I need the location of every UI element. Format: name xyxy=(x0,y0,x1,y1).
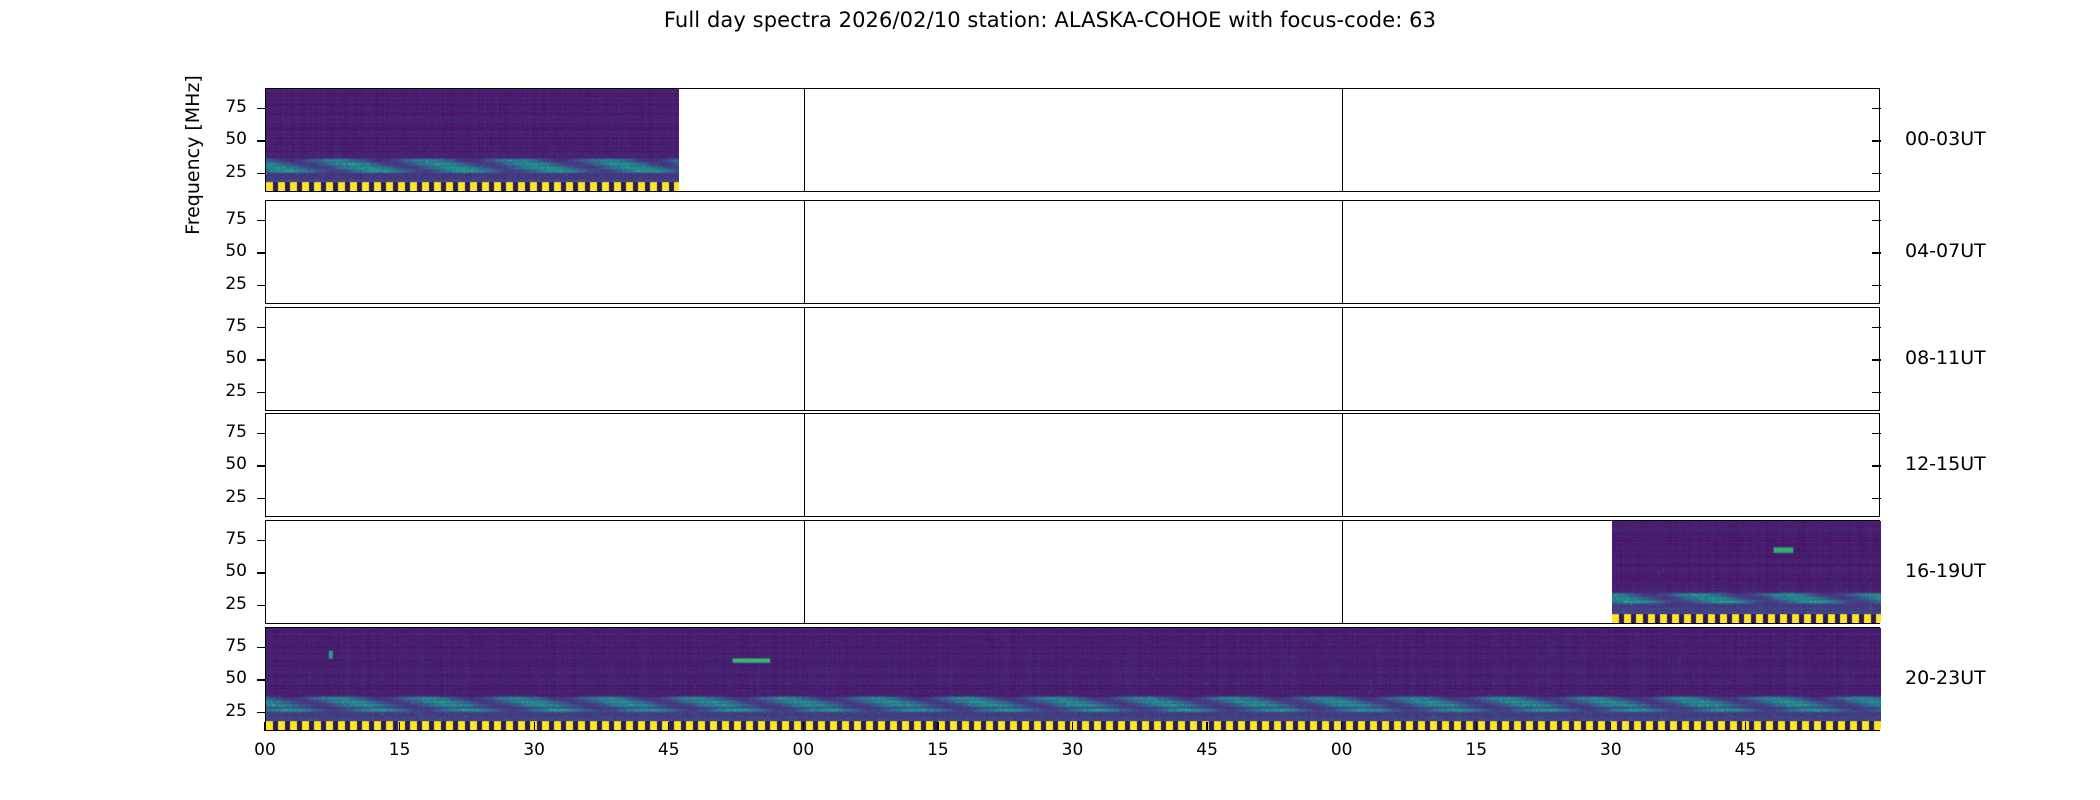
y-tick-label: 75 xyxy=(187,636,247,656)
x-tick-label: 30 xyxy=(504,740,564,760)
x-tick-label: 00 xyxy=(773,740,833,760)
row-label-00-03ut: 00-03UT xyxy=(1905,128,1986,150)
y-tick-mark xyxy=(1872,252,1881,253)
panel-hour-divider xyxy=(804,308,805,410)
x-tick-label: 45 xyxy=(1177,740,1237,760)
panel-hour-divider xyxy=(1342,414,1343,516)
y-tick-mark xyxy=(257,647,266,648)
y-tick-mark xyxy=(257,359,266,360)
panel-hour-divider xyxy=(1342,521,1343,623)
x-tick-mark xyxy=(1341,722,1342,731)
y-tick-label: 50 xyxy=(187,561,247,581)
x-tick-mark xyxy=(1206,722,1207,731)
panel-hour-divider xyxy=(1342,308,1343,410)
y-tick-mark xyxy=(257,140,266,141)
y-tick-label: 25 xyxy=(187,274,247,294)
y-tick-label: 50 xyxy=(187,129,247,149)
y-tick-mark xyxy=(257,540,266,541)
row-label-12-15ut: 12-15UT xyxy=(1905,453,1986,475)
x-tick-mark xyxy=(1610,722,1611,731)
y-tick-mark xyxy=(1872,140,1881,141)
y-tick-label: 75 xyxy=(187,97,247,117)
y-tick-label: 25 xyxy=(187,594,247,614)
x-tick-label: 00 xyxy=(235,740,295,760)
y-tick-mark xyxy=(257,108,266,109)
y-tick-mark xyxy=(1872,285,1881,286)
panel-hour-divider xyxy=(804,201,805,303)
x-tick-mark xyxy=(803,722,804,731)
y-tick-mark xyxy=(257,252,266,253)
panel-hour-divider xyxy=(804,521,805,623)
x-tick-label: 30 xyxy=(1581,740,1641,760)
y-tick-mark xyxy=(257,433,266,434)
x-tick-label: 15 xyxy=(1446,740,1506,760)
x-tick-mark xyxy=(399,722,400,731)
y-tick-mark xyxy=(257,712,266,713)
y-tick-label: 75 xyxy=(187,529,247,549)
y-tick-label: 50 xyxy=(187,668,247,688)
figure-root: Full day spectra 2026/02/10 station: ALA… xyxy=(0,0,2100,800)
y-tick-label: 75 xyxy=(187,422,247,442)
spectrogram-panel-08-11ut xyxy=(265,307,1880,411)
y-tick-mark xyxy=(257,327,266,328)
x-tick-label: 45 xyxy=(639,740,699,760)
y-tick-label: 75 xyxy=(187,316,247,336)
y-tick-mark xyxy=(257,173,266,174)
y-tick-mark xyxy=(257,572,266,573)
x-tick-mark xyxy=(1745,722,1746,731)
row-label-08-11ut: 08-11UT xyxy=(1905,347,1986,369)
y-tick-mark xyxy=(1872,108,1881,109)
y-tick-mark xyxy=(1872,173,1881,174)
y-tick-mark xyxy=(257,605,266,606)
panel-hour-divider xyxy=(1342,89,1343,191)
y-tick-mark xyxy=(257,392,266,393)
y-tick-mark xyxy=(1872,498,1881,499)
y-tick-mark xyxy=(257,220,266,221)
y-tick-mark xyxy=(257,465,266,466)
row-label-20-23ut: 20-23UT xyxy=(1905,667,1986,689)
x-tick-mark xyxy=(264,722,265,731)
x-tick-label: 15 xyxy=(370,740,430,760)
x-tick-mark xyxy=(534,722,535,731)
y-tick-label: 50 xyxy=(187,348,247,368)
figure-title: Full day spectra 2026/02/10 station: ALA… xyxy=(0,8,2100,32)
x-tick-label: 30 xyxy=(1043,740,1103,760)
y-tick-mark xyxy=(257,285,266,286)
y-tick-mark xyxy=(1872,392,1881,393)
y-tick-label: 25 xyxy=(187,701,247,721)
y-tick-mark xyxy=(1872,327,1881,328)
spectrogram-image xyxy=(266,628,1881,730)
x-tick-label: 00 xyxy=(1312,740,1372,760)
panel-hour-divider xyxy=(804,89,805,191)
y-tick-mark xyxy=(257,679,266,680)
x-tick-label: 15 xyxy=(908,740,968,760)
row-label-16-19ut: 16-19UT xyxy=(1905,560,1986,582)
y-tick-label: 50 xyxy=(187,241,247,261)
x-tick-mark xyxy=(1072,722,1073,731)
y-tick-mark xyxy=(1872,359,1881,360)
y-tick-mark xyxy=(1872,433,1881,434)
y-tick-mark xyxy=(1872,220,1881,221)
x-tick-mark xyxy=(937,722,938,731)
y-tick-label: 25 xyxy=(187,487,247,507)
y-tick-label: 75 xyxy=(187,209,247,229)
x-tick-mark xyxy=(668,722,669,731)
spectrogram-panel-16-19ut xyxy=(265,520,1880,624)
spectrogram-image xyxy=(1612,521,1881,623)
x-tick-label: 45 xyxy=(1715,740,1775,760)
y-tick-mark xyxy=(1872,465,1881,466)
spectrogram-panel-00-03ut xyxy=(265,88,1880,192)
x-tick-mark xyxy=(1476,722,1477,731)
spectrogram-image xyxy=(266,89,679,191)
y-tick-label: 50 xyxy=(187,454,247,474)
row-label-04-07ut: 04-07UT xyxy=(1905,240,1986,262)
y-tick-label: 25 xyxy=(187,381,247,401)
panel-hour-divider xyxy=(804,414,805,516)
y-tick-mark xyxy=(257,498,266,499)
spectrogram-panel-20-23ut xyxy=(265,627,1880,731)
y-tick-label: 25 xyxy=(187,162,247,182)
panel-hour-divider xyxy=(1342,201,1343,303)
spectrogram-panel-12-15ut xyxy=(265,413,1880,517)
spectrogram-panel-04-07ut xyxy=(265,200,1880,304)
